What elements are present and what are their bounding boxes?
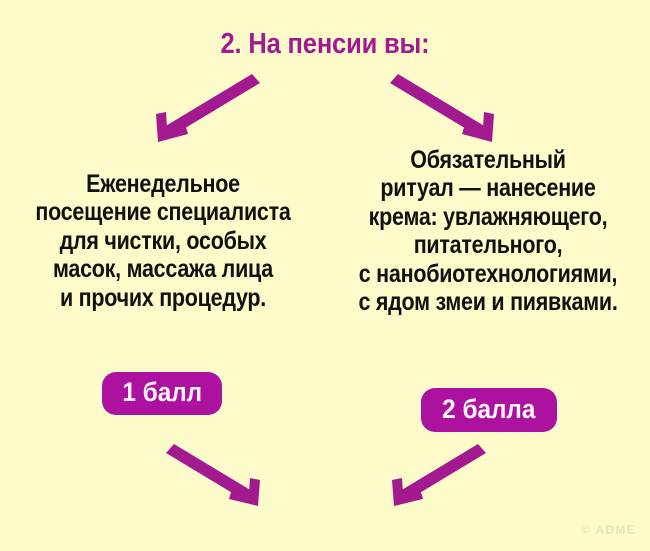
answer-right-line-4: питательного, xyxy=(349,231,628,259)
score-badge-left: 1 балл xyxy=(102,372,222,415)
answer-right-line-1: Обязательный xyxy=(349,146,628,174)
score-badge-right: 2 балла xyxy=(421,388,557,432)
answer-left-text: Еженедельное посещение специалиста для ч… xyxy=(2,170,324,312)
score-badge-left-label: 1 балл xyxy=(122,377,202,408)
answer-right-text: Обязательный ритуал — нанесение крема: у… xyxy=(326,146,650,316)
answer-left-line-3: для чистки, особых xyxy=(25,227,302,255)
answer-right-line-5: с нанобиотехнологиями, xyxy=(349,260,628,288)
answer-right-line-6: с ядом змеи и пиявками. xyxy=(349,288,628,316)
answer-left-line-5: и прочих процедур. xyxy=(25,284,302,312)
answer-right-line-3: крема: увлажняющего, xyxy=(349,203,628,231)
watermark: © ADME xyxy=(581,523,636,537)
answer-left-line-4: масок, массажа лица xyxy=(25,255,302,283)
page-title: 2. На пенсии вы: xyxy=(39,28,611,61)
infographic-flowchart: 2. На пенсии вы: Еженедельное посещение … xyxy=(0,0,650,551)
arrow-down-left-icon xyxy=(386,444,486,511)
arrow-down-left-icon xyxy=(148,74,260,147)
arrow-down-right-icon xyxy=(390,74,502,147)
arrow-down-right-icon xyxy=(166,444,266,511)
answer-left-line-2: посещение специалиста xyxy=(25,198,302,226)
answer-right-line-2: ритуал — нанесение xyxy=(349,174,628,202)
answer-left-line-1: Еженедельное xyxy=(25,170,302,198)
score-badge-right-label: 2 балла xyxy=(442,394,535,425)
